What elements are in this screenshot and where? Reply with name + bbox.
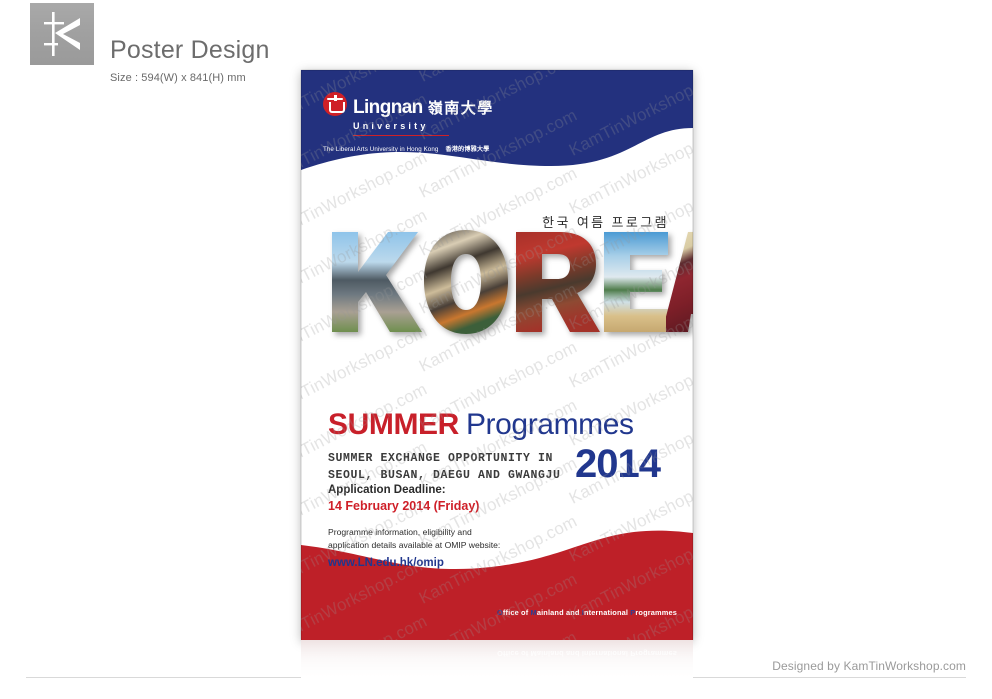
kamtin-k-logo-icon: [30, 3, 94, 65]
page-title: Poster Design: [110, 36, 270, 65]
poster-canvas: Lingnan 嶺南大學 University The Liberal Arts…: [301, 70, 693, 640]
info-block: Programme information, eligibility and a…: [328, 526, 500, 572]
lingnan-tagline: The Liberal Arts University in Hong Kong…: [323, 144, 494, 153]
info-line-2: application details available at OMIP we…: [328, 539, 500, 552]
korea-letter-K: [332, 232, 422, 332]
year-2014: 2014: [575, 444, 660, 484]
deadline-label: Application Deadline:: [328, 482, 479, 498]
lingnan-seal-icon: [323, 92, 347, 116]
korea-letter-R: [516, 232, 600, 332]
deadline-block: Application Deadline: 14 February 2014 (…: [328, 482, 479, 515]
reflection-fade: [301, 640, 693, 678]
korea-letter-O: [424, 230, 508, 334]
deadline-date: 14 February 2014 (Friday): [328, 498, 479, 515]
lingnan-tagline-en: The Liberal Arts University in Hong Kong: [323, 146, 438, 153]
page-subtitle-size: Size : 594(W) x 841(H) mm: [110, 72, 246, 84]
subline-1: SUMMER EXCHANGE OPPORTUNITY IN: [328, 450, 561, 467]
lingnan-red-rule: [353, 135, 449, 136]
omip-website-url[interactable]: www.LN.edu.hk/omip: [328, 554, 500, 572]
korea-letter-E: [604, 232, 668, 332]
headline-programmes: Programmes: [466, 408, 634, 441]
korean-subtitle: 한국 여름 프로그램: [542, 212, 669, 231]
headline-summer: SUMMER: [328, 408, 459, 441]
poster-preview[interactable]: Lingnan 嶺南大學 University The Liberal Arts…: [301, 70, 693, 640]
screen-root: Poster Design Size : 594(W) x 841(H) mm: [0, 0, 992, 699]
designer-credit: Designed by KamTinWorkshop.com: [772, 659, 966, 673]
lingnan-university-word: University: [353, 121, 494, 131]
korea-photo-title: [328, 220, 693, 340]
poster-reflection: Office of Mainland and International Pro…: [301, 640, 693, 678]
korea-letter-A: [666, 232, 693, 332]
lingnan-logo: Lingnan 嶺南大學 University The Liberal Arts…: [323, 92, 494, 153]
footer-office-text: Office of Mainland and International Pro…: [497, 608, 677, 617]
headline-row: SUMMERProgrammes: [328, 408, 634, 442]
headline-subline: SUMMER EXCHANGE OPPORTUNITY IN SEOUL, BU…: [328, 450, 561, 484]
info-line-1: Programme information, eligibility and: [328, 526, 500, 539]
lingnan-tagline-cn: 香港的博雅大學: [445, 146, 489, 153]
lingnan-name-cn: 嶺南大學: [428, 99, 494, 118]
lingnan-name: Lingnan: [353, 98, 423, 117]
